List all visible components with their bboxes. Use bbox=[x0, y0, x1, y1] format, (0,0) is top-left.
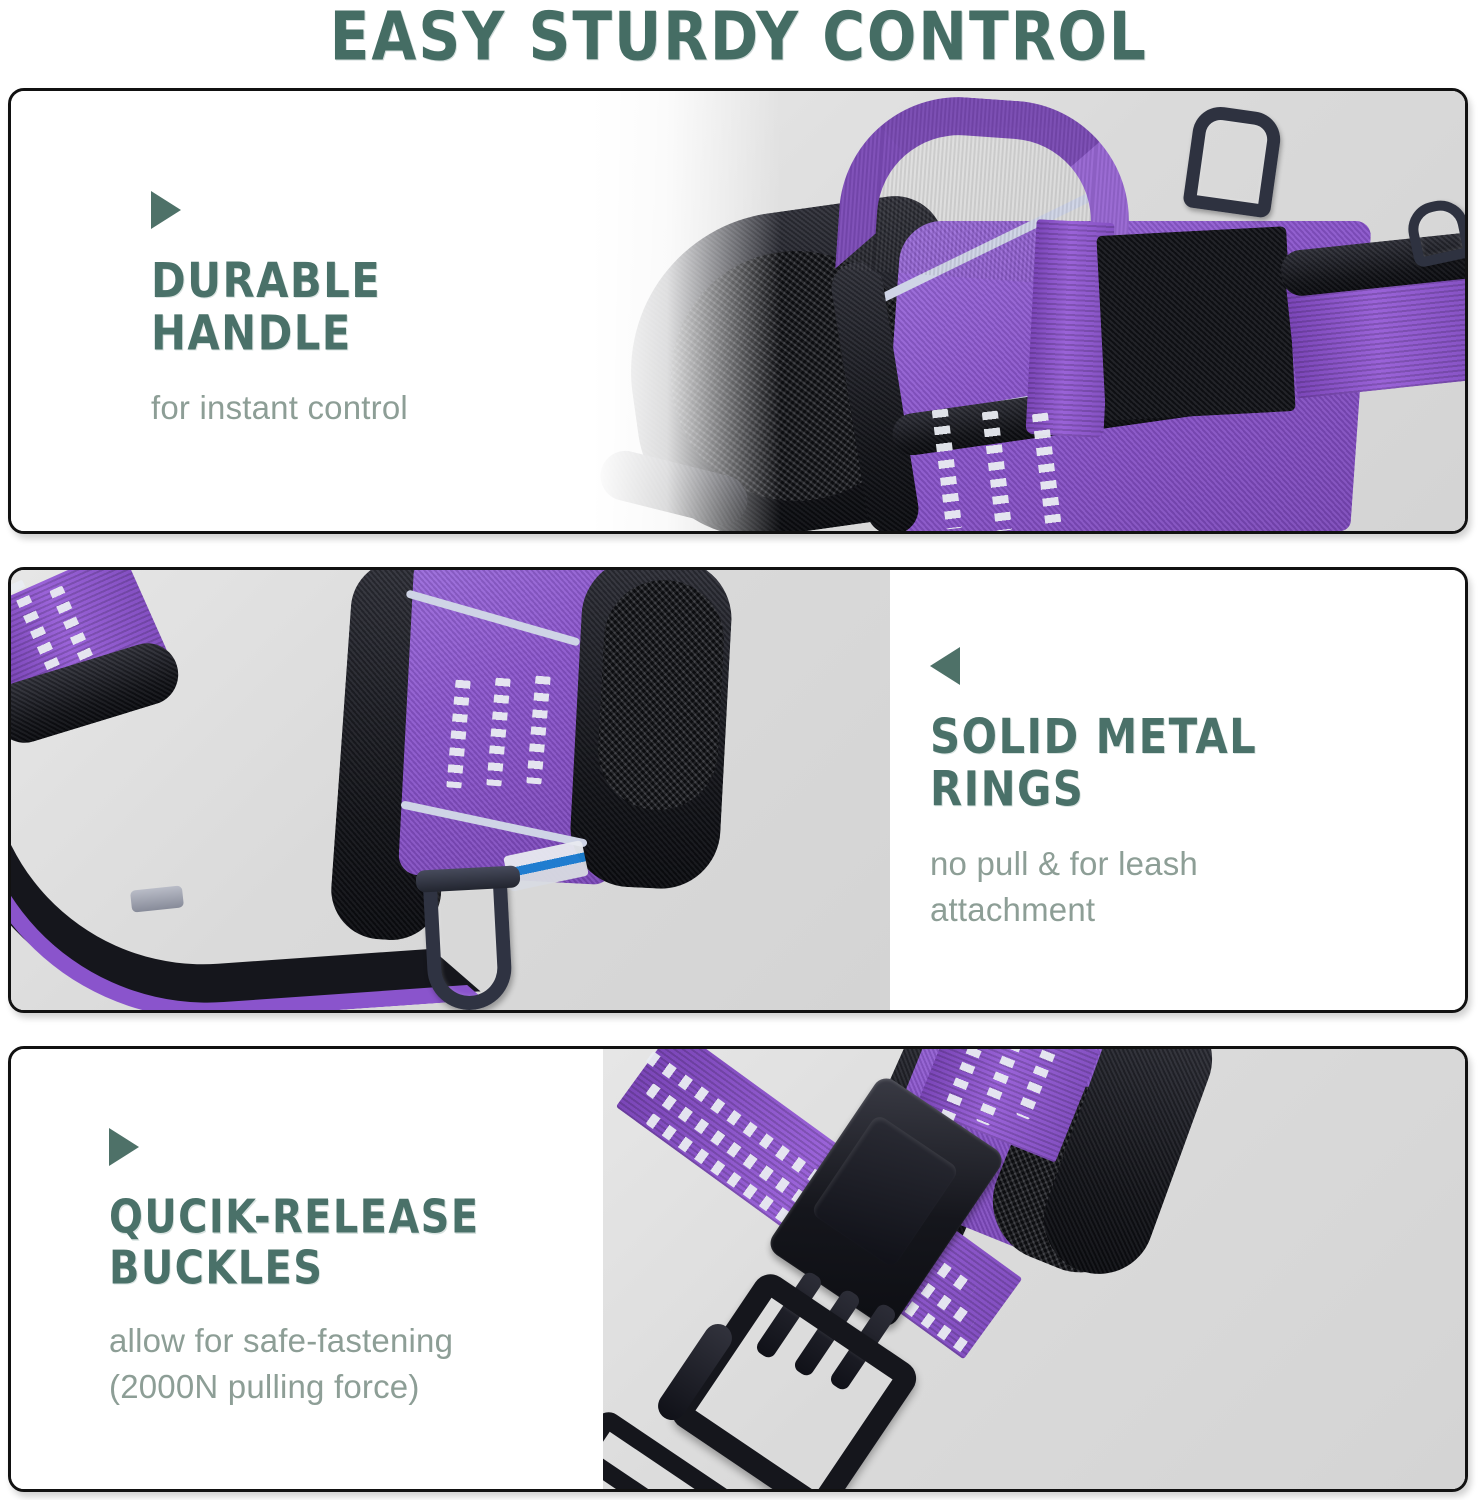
feature-panel-solid-metal-rings: SOLID METAL RINGS no pull & for leash at… bbox=[8, 567, 1468, 1013]
panel-3-headline: QUCIK-RELEASE BUCKLES bbox=[109, 1192, 578, 1293]
panel-3-subline-line2: (2000N pulling force) bbox=[109, 1364, 603, 1410]
panel-2-subline-line1: no pull & for leash bbox=[930, 841, 1465, 887]
panel-1-headline-line2: HANDLE bbox=[151, 308, 569, 361]
title-bar: EASY STURDY CONTROL bbox=[0, 0, 1478, 78]
panel-2-headline-line1: SOLID METAL bbox=[930, 711, 1438, 764]
panel-3-subline: allow for safe-fastening (2000N pulling … bbox=[109, 1318, 603, 1410]
panel-1-headline: DURABLE HANDLE bbox=[151, 255, 569, 361]
triangle-left-icon bbox=[930, 647, 960, 685]
panel-2-subline: no pull & for leash attachment bbox=[930, 841, 1465, 933]
center-mesh bbox=[595, 577, 727, 813]
page-title: EASY STURDY CONTROL bbox=[330, 0, 1148, 72]
panel-2-product-photo bbox=[11, 570, 890, 1010]
infographic-page: EASY STURDY CONTROL DURABLE HANDLE for i… bbox=[0, 0, 1478, 1500]
feature-panel-durable-handle: DURABLE HANDLE for instant control bbox=[8, 88, 1468, 534]
metal-d-ring bbox=[1182, 103, 1284, 218]
harness-handle-illustration bbox=[591, 91, 1465, 531]
panel-2-text-zone: SOLID METAL RINGS no pull & for leash at… bbox=[890, 570, 1465, 1010]
panel-1-subline: for instant control bbox=[151, 385, 591, 431]
triangle-right-icon bbox=[109, 1128, 139, 1166]
panel-1-headline-line1: DURABLE bbox=[151, 255, 569, 308]
panel-3-product-photo bbox=[603, 1049, 1465, 1489]
panel-2-headline: SOLID METAL RINGS bbox=[930, 711, 1438, 817]
buckle-illustration bbox=[603, 1049, 1465, 1489]
velcro-patch bbox=[1096, 226, 1295, 421]
panel-3-text-zone: QUCIK-RELEASE BUCKLES allow for safe-fas… bbox=[11, 1049, 603, 1489]
panel-2-subline-line2: attachment bbox=[930, 887, 1465, 933]
panel-1-text-zone: DURABLE HANDLE for instant control bbox=[11, 91, 591, 531]
harness-metal-ring-illustration bbox=[11, 570, 890, 1010]
metal-leash-ring bbox=[423, 873, 514, 1010]
lower-dangling-strap bbox=[595, 446, 753, 531]
panel-2-headline-line2: RINGS bbox=[930, 764, 1438, 817]
panel-1-subline-line1: for instant control bbox=[151, 385, 591, 431]
triangle-right-icon bbox=[151, 191, 181, 229]
panel-3-headline-line2: BUCKLES bbox=[109, 1243, 578, 1294]
feature-panel-quick-release-buckles: QUCIK-RELEASE BUCKLES allow for safe-fas… bbox=[8, 1046, 1468, 1492]
panel-1-product-photo bbox=[591, 91, 1465, 531]
panel-3-headline-line1: QUCIK-RELEASE bbox=[109, 1192, 578, 1243]
panel-3-subline-line1: allow for safe-fastening bbox=[109, 1318, 603, 1364]
